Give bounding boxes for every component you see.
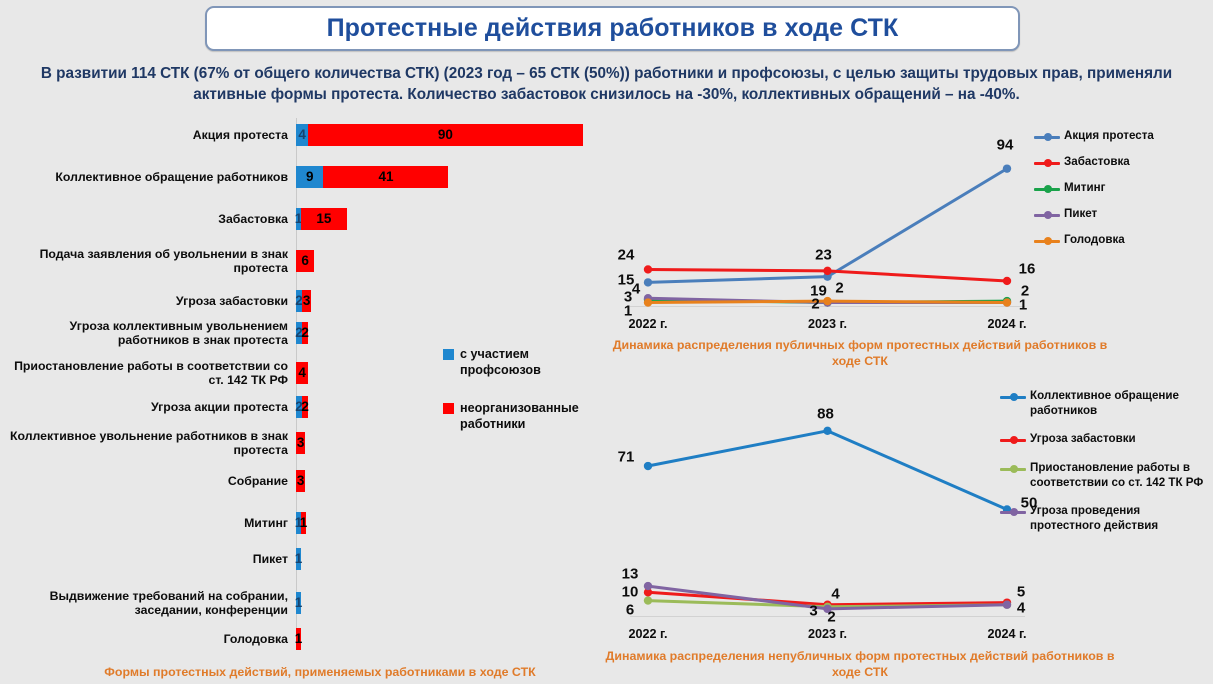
nonpublic-legend-label: Приостановление работы в соответствии со… (1030, 460, 1210, 490)
nonpublic-legend-item: Приостановление работы в соответствии со… (1000, 460, 1210, 490)
bar-chart-panel: Акция протеста490Коллективное обращение … (0, 118, 600, 663)
bar-chart-category-label: Угроза забастовки (0, 290, 296, 312)
legend-line-marker-icon (1000, 433, 1026, 447)
line-chart-nonpublic-plot: 2022 г.2023 г.2024 г.7188501310634254 (630, 378, 1025, 643)
bar-segment-unorganized (302, 290, 311, 312)
public-legend-item: Пикет (1034, 206, 1209, 222)
line-chart-public-legend: Акция протестаЗабастовкаМитингПикетГолод… (1034, 128, 1209, 258)
line-data-marker (644, 298, 652, 306)
nonpublic-legend-item: Коллективное обращение работников (1000, 388, 1210, 418)
bar-chart-row: Приостановление работы в соответствии со… (0, 358, 296, 388)
line-chart-svg (630, 378, 1025, 643)
legend-line-marker-icon (1000, 462, 1026, 476)
bar-chart-category-label: Приостановление работы в соответствии со… (0, 358, 296, 388)
x-axis-tick-label: 2022 г. (629, 317, 668, 331)
slide-subtitle: В развитии 114 СТК (67% от общего количе… (24, 63, 1189, 105)
bar-segment-unorganized (302, 396, 308, 418)
bar-segment-union (296, 548, 301, 570)
bar-segment-unorganized (296, 628, 301, 650)
bar-chart-category-label: Голодовка (0, 628, 296, 650)
bar-segment-unorganized (301, 208, 347, 230)
legend-item-union: с участием профсоюзов (443, 346, 593, 378)
legend-line-marker-icon (1034, 130, 1060, 144)
bar-chart-row: Коллективное обращение работников941 (0, 166, 296, 188)
bar-chart-row: Подача заявления об увольнении в знак пр… (0, 246, 296, 276)
legend-label-union: с участием профсоюзов (460, 346, 593, 378)
bar-segment-unorganized (323, 166, 448, 188)
line-data-marker (1003, 601, 1011, 609)
bar-segment-unorganized (302, 322, 308, 344)
legend-swatch-icon-union (443, 349, 454, 360)
line-data-marker (644, 596, 652, 604)
line-chart-nonpublic-legend: Коллективное обращение работниковУгроза … (1000, 388, 1210, 546)
bar-segment-union (296, 166, 323, 188)
bar-chart-row: Акция протеста490 (0, 124, 296, 146)
bar-segment-unorganized (296, 250, 314, 272)
x-axis-tick-label: 2024 г. (988, 627, 1027, 641)
nonpublic-legend-label: Угроза проведения протестного действия (1030, 503, 1210, 533)
bar-chart-caption: Формы протестных действий, применяемых р… (40, 664, 600, 680)
legend-line-marker-icon (1000, 505, 1026, 519)
line-data-marker (644, 462, 652, 470)
line-data-marker (1003, 298, 1011, 306)
public-legend-item: Митинг (1034, 180, 1209, 196)
bar-chart-row: Забастовка115 (0, 208, 296, 230)
legend-line-marker-icon (1034, 234, 1060, 248)
line-data-marker (644, 278, 652, 286)
bar-segment-union (296, 124, 308, 146)
line-data-marker (823, 267, 831, 275)
bar-segment-unorganized (296, 470, 305, 492)
bar-chart-row: Коллективное увольнение работников в зна… (0, 428, 296, 458)
line-chart-public-caption: Динамика распределения публичных форм пр… (600, 337, 1120, 369)
x-axis-tick-label: 2022 г. (629, 627, 668, 641)
bar-chart-row: Митинг11 (0, 512, 296, 534)
public-legend-item: Акция протеста (1034, 128, 1209, 144)
bar-chart-row: Угроза забастовки23 (0, 290, 296, 312)
bar-chart-legend: с участием профсоюзов неорганизованные р… (443, 346, 593, 454)
line-data-marker (823, 427, 831, 435)
public-legend-label: Акция протеста (1064, 128, 1154, 143)
line-data-marker (823, 297, 831, 305)
nonpublic-legend-label: Угроза забастовки (1030, 431, 1136, 446)
line-data-marker (1003, 164, 1011, 172)
bar-segment-union (296, 592, 301, 614)
line-chart-svg (630, 118, 1025, 333)
line-chart-public-plot: 2022 г.2023 г.2024 г.1519942423163241122 (630, 118, 1025, 333)
nonpublic-legend-item: Угроза забастовки (1000, 431, 1210, 447)
public-legend-item: Забастовка (1034, 154, 1209, 170)
x-axis-tick-label: 2023 г. (808, 317, 847, 331)
x-axis-tick-label: 2024 г. (988, 317, 1027, 331)
bar-chart-row: Голодовка1 (0, 628, 296, 650)
line-data-marker (644, 265, 652, 273)
bar-chart-category-label: Угроза коллективным увольнением работник… (0, 318, 296, 348)
nonpublic-legend-label: Коллективное обращение работников (1030, 388, 1210, 418)
bar-chart-category-label: Подача заявления об увольнении в знак пр… (0, 246, 296, 276)
slide-root: Протестные действия работников в ходе СТ… (0, 0, 1213, 684)
legend-line-marker-icon (1000, 390, 1026, 404)
bar-chart-category-label: Угроза акции протеста (0, 396, 296, 418)
bar-chart-category-label: Пикет (0, 548, 296, 570)
legend-item-unorganized: неорганизованные работники (443, 400, 593, 432)
bar-chart-category-label: Митинг (0, 512, 296, 534)
line-chart-nonpublic-caption: Динамика распределения непубличных форм … (600, 648, 1120, 680)
legend-line-marker-icon (1034, 208, 1060, 222)
bar-chart-category-label: Выдвижение требований на собрании, засед… (0, 588, 296, 618)
line-data-marker (823, 605, 831, 613)
x-axis-tick-label: 2023 г. (808, 627, 847, 641)
line-series-path (648, 431, 1007, 510)
bar-segment-unorganized (301, 512, 306, 534)
bar-chart-category-label: Забастовка (0, 208, 296, 230)
line-data-marker (644, 582, 652, 590)
public-legend-label: Забастовка (1064, 154, 1130, 169)
legend-swatch-icon-unorganized (443, 403, 454, 414)
legend-label-unorganized: неорганизованные работники (460, 400, 593, 432)
bar-chart-category-label: Собрание (0, 470, 296, 492)
bar-chart-category-label: Коллективное обращение работников (0, 166, 296, 188)
bar-segment-unorganized (308, 124, 583, 146)
bar-segment-unorganized (296, 432, 305, 454)
public-legend-item: Голодовка (1034, 232, 1209, 248)
legend-line-marker-icon (1034, 182, 1060, 196)
bar-chart-row: Угроза акции протеста22 (0, 396, 296, 418)
legend-line-marker-icon (1034, 156, 1060, 170)
bar-chart-row: Собрание3 (0, 470, 296, 492)
line-series-path (648, 169, 1007, 283)
public-legend-label: Митинг (1064, 180, 1105, 195)
bar-chart-category-label: Коллективное увольнение работников в зна… (0, 428, 296, 458)
bar-chart-row: Выдвижение требований на собрании, засед… (0, 588, 296, 618)
bar-chart-row: Угроза коллективным увольнением работник… (0, 318, 296, 348)
bar-segment-unorganized (296, 362, 308, 384)
public-legend-label: Пикет (1064, 206, 1097, 221)
page-title: Протестные действия работников в ходе СТ… (327, 14, 899, 43)
line-data-marker (1003, 277, 1011, 285)
nonpublic-legend-item: Угроза проведения протестного действия (1000, 503, 1210, 533)
slide-title-box: Протестные действия работников в ходе СТ… (205, 6, 1020, 51)
public-legend-label: Голодовка (1064, 232, 1125, 247)
bar-chart-row: Пикет1 (0, 548, 296, 570)
bar-chart-category-label: Акция протеста (0, 124, 296, 146)
